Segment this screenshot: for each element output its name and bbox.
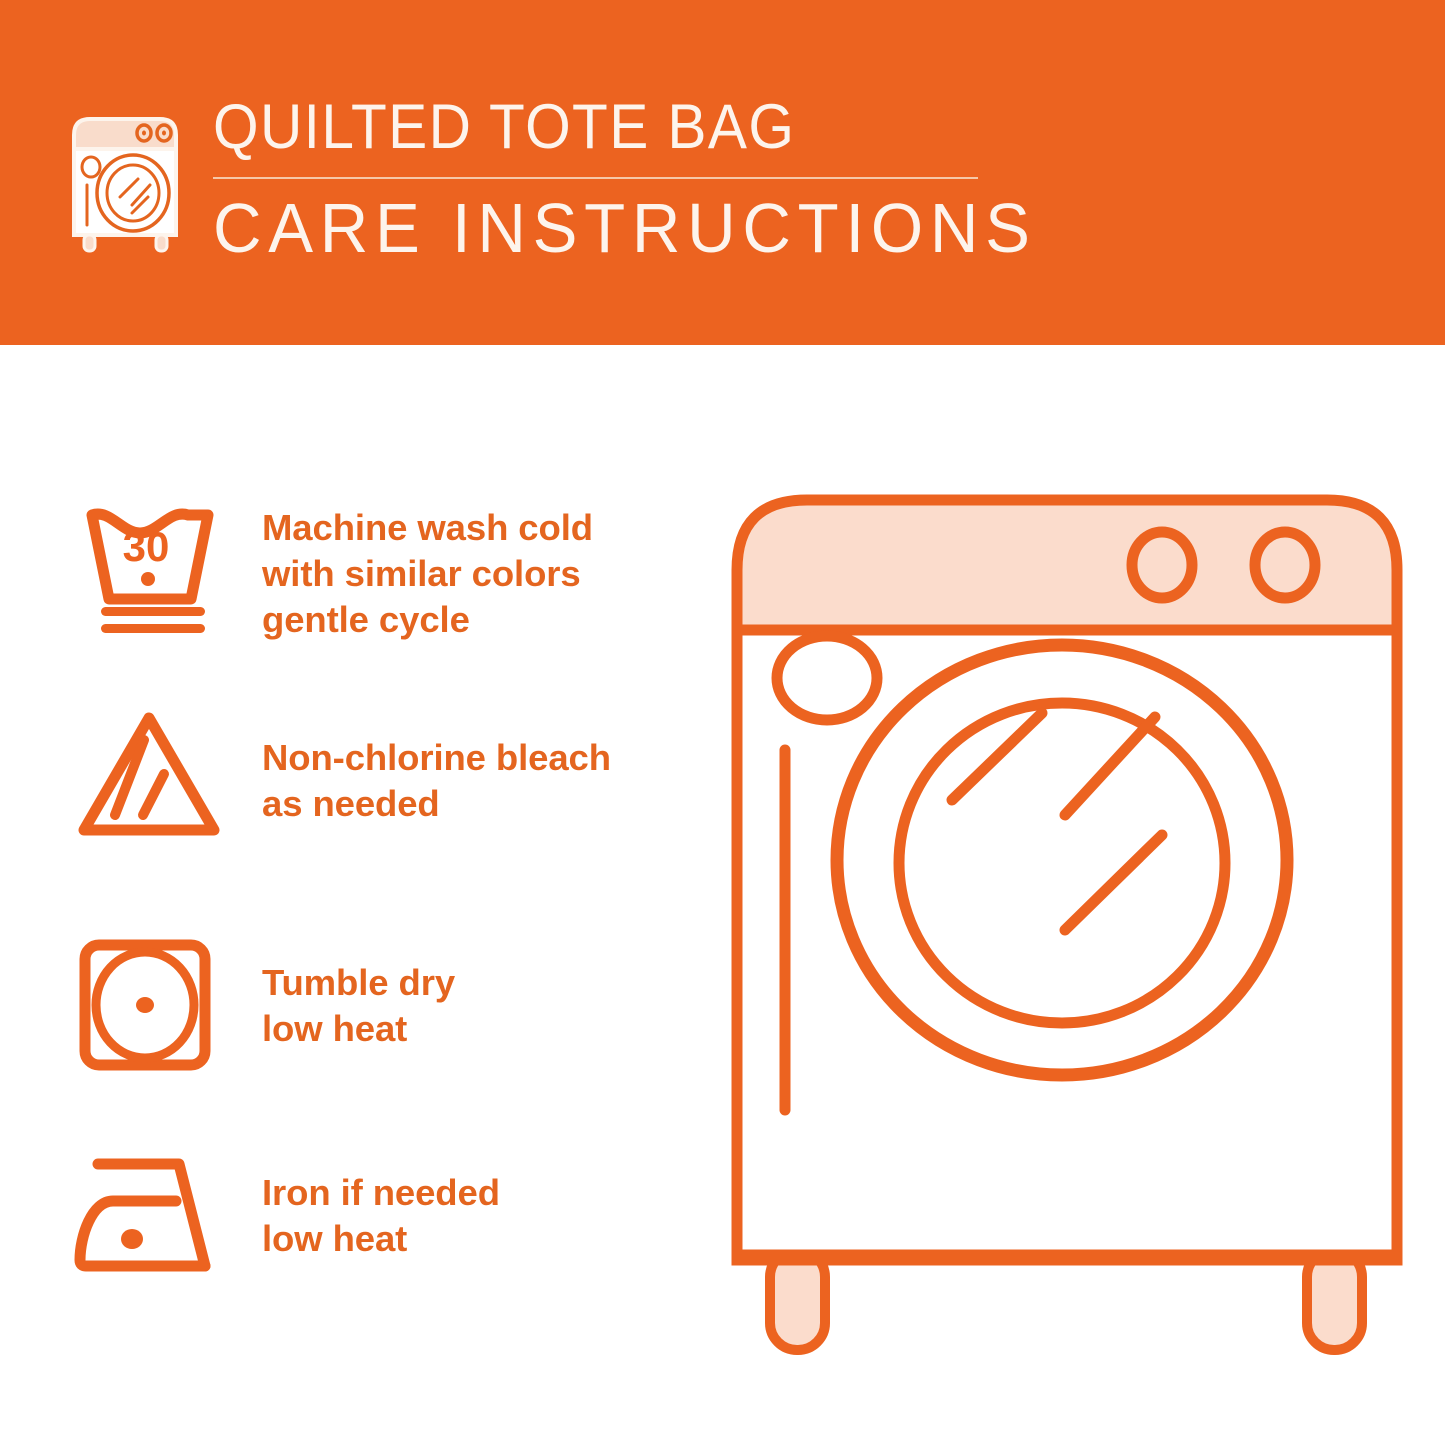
care-item-label: Tumble dry low heat bbox=[262, 928, 455, 1052]
care-item-bleach: Non-chlorine bleach as needed bbox=[0, 700, 700, 850]
page-subtitle: CARE INSTRUCTIONS bbox=[213, 193, 957, 263]
svg-text:30: 30 bbox=[123, 523, 170, 570]
washing-machine-icon bbox=[66, 105, 184, 255]
care-item-tumble-dry: Tumble dry low heat bbox=[0, 928, 700, 1078]
header-text-block: QUILTED TOTE BAG CARE INSTRUCTIONS bbox=[213, 96, 988, 263]
care-instructions-infographic: QUILTED TOTE BAG CARE INSTRUCTIONS 30 bbox=[0, 0, 1445, 1445]
care-item-label: Iron if needed low heat bbox=[262, 1140, 500, 1262]
non-chlorine-bleach-icon bbox=[68, 700, 240, 850]
header-divider bbox=[213, 177, 978, 179]
iron-low-heat-icon bbox=[68, 1140, 240, 1290]
header-band: QUILTED TOTE BAG CARE INSTRUCTIONS bbox=[0, 0, 1445, 345]
machine-control-panel bbox=[737, 500, 1397, 630]
washing-machine-illustration bbox=[707, 470, 1407, 1390]
machine-wash-30-gentle-icon: 30 bbox=[68, 495, 240, 645]
care-instructions-list: 30 Machine wash cold with similar colors… bbox=[0, 345, 700, 1445]
tumble-dry-low-icon bbox=[68, 928, 240, 1078]
care-item-iron: Iron if needed low heat bbox=[0, 1140, 700, 1290]
page-title: QUILTED TOTE BAG bbox=[213, 96, 934, 159]
care-item-machine-wash: 30 Machine wash cold with similar colors… bbox=[0, 495, 700, 645]
care-item-label: Non-chlorine bleach as needed bbox=[262, 700, 611, 827]
care-item-label: Machine wash cold with similar colors ge… bbox=[262, 495, 593, 642]
